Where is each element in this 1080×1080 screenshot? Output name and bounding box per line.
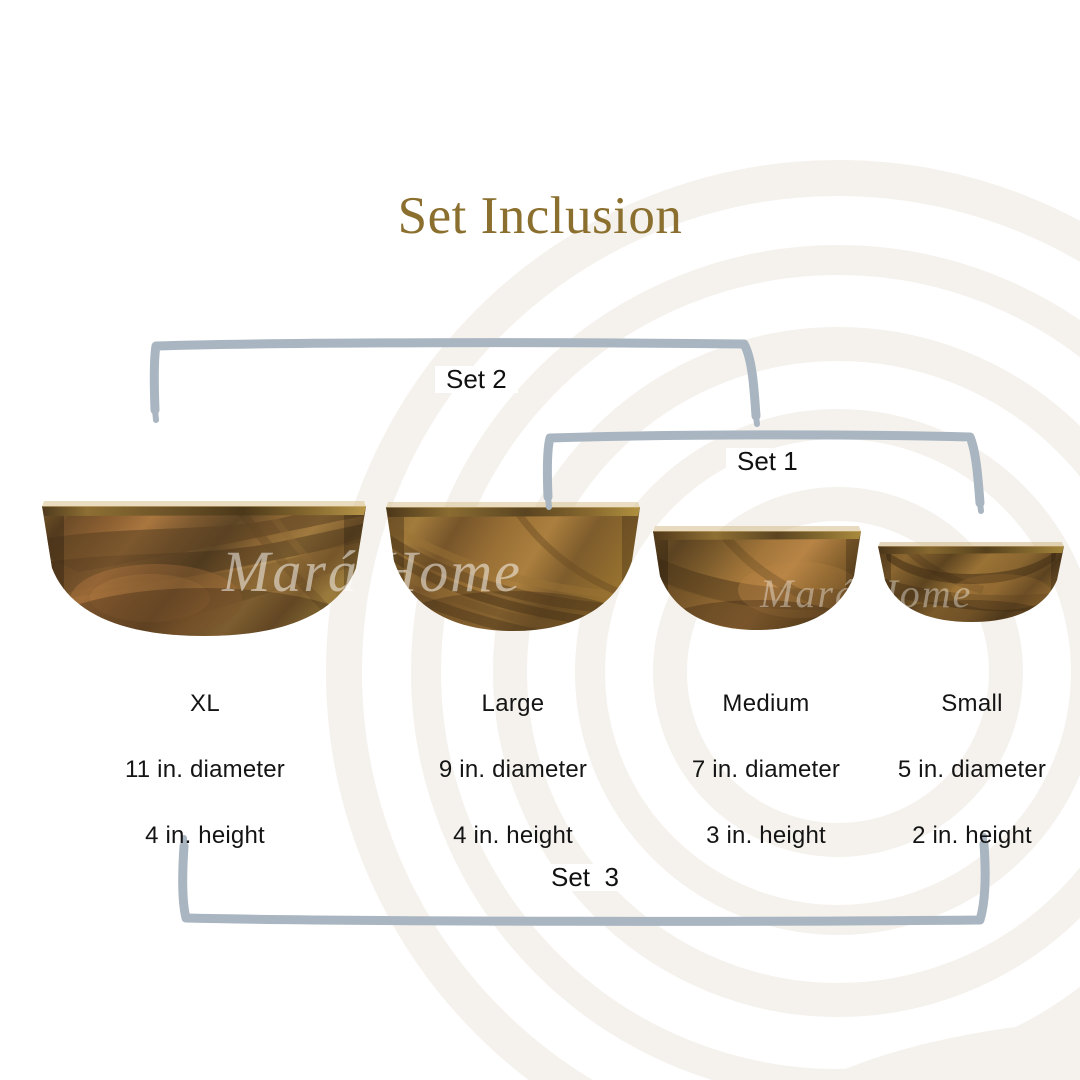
bowl-image-small (875, 540, 1067, 631)
bracket-label-set-1: Set 1 (726, 448, 809, 475)
caption-xl-name: XL (80, 692, 330, 716)
caption-xl: XL 11 in. diameter 4 in. height (80, 660, 330, 880)
bowl-image-xl (38, 496, 370, 643)
caption-small-name: Small (847, 692, 1080, 716)
bracket-label-set-2: Set 2 (435, 366, 518, 393)
bowl-image-medium (650, 524, 864, 639)
infographic-canvas: Set Inclusion (0, 0, 1080, 1080)
caption-xl-height: 4 in. height (80, 824, 330, 848)
caption-large-diameter: 9 in. diameter (388, 758, 638, 782)
caption-xl-diameter: 11 in. diameter (80, 758, 330, 782)
caption-large: Large 9 in. diameter 4 in. height (388, 660, 638, 880)
caption-large-name: Large (388, 692, 638, 716)
caption-small-diameter: 5 in. diameter (847, 758, 1080, 782)
caption-small: Small 5 in. diameter 2 in. height (847, 660, 1080, 880)
caption-small-height: 2 in. height (847, 824, 1080, 848)
caption-large-height: 4 in. height (388, 824, 638, 848)
